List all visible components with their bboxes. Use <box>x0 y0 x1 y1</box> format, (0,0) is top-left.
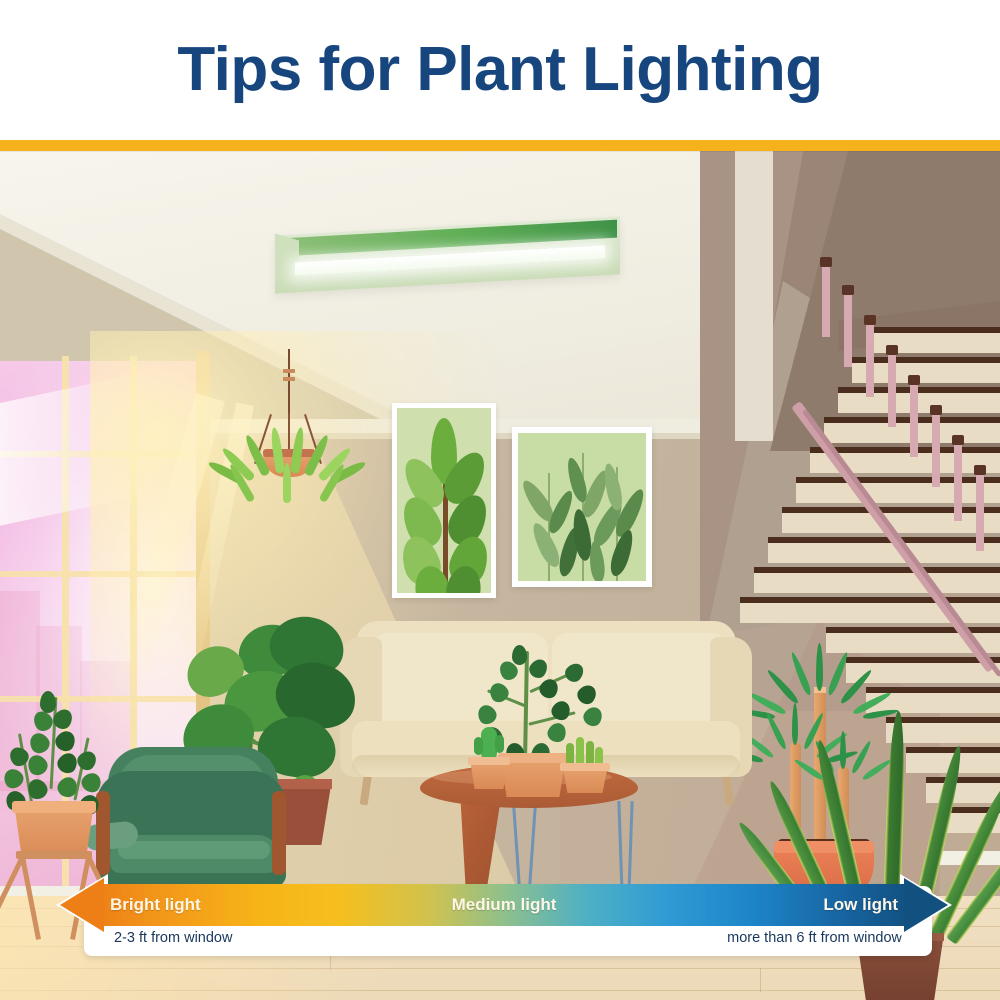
grow-light-side <box>275 234 299 287</box>
baluster <box>844 291 852 367</box>
wall-trim-column <box>735 151 773 441</box>
bright-light-label: Bright light <box>110 895 201 915</box>
baluster <box>888 351 896 427</box>
baluster <box>822 263 830 337</box>
plant-light-distance-scale: 2-3 ft from window more than 6 ft from w… <box>60 880 948 960</box>
baluster <box>866 321 874 397</box>
baluster <box>954 441 962 521</box>
gradient-arrow: Bright light Medium light Low light <box>60 884 948 926</box>
page-title: Tips for Plant Lighting <box>177 39 822 101</box>
baluster <box>932 411 940 487</box>
baluster <box>976 471 984 551</box>
wall-art-left <box>392 403 496 598</box>
infographic-page: Tips for Plant Lighting <box>0 0 1000 1000</box>
living-room-illustration <box>0 151 1000 1000</box>
wall-art-right <box>512 427 652 587</box>
legend-detail-row: 2-3 ft from window more than 6 ft from w… <box>100 922 916 954</box>
low-light-label: Low light <box>823 895 898 915</box>
medium-light-label: Medium light <box>452 895 557 915</box>
legend-labels: Bright light Medium light Low light <box>96 884 912 926</box>
header: Tips for Plant Lighting <box>0 0 1000 140</box>
bright-light-detail: 2-3 ft from window <box>114 930 232 946</box>
header-divider <box>0 140 1000 151</box>
low-light-detail: more than 6 ft from window <box>727 930 902 946</box>
baluster <box>910 381 918 457</box>
